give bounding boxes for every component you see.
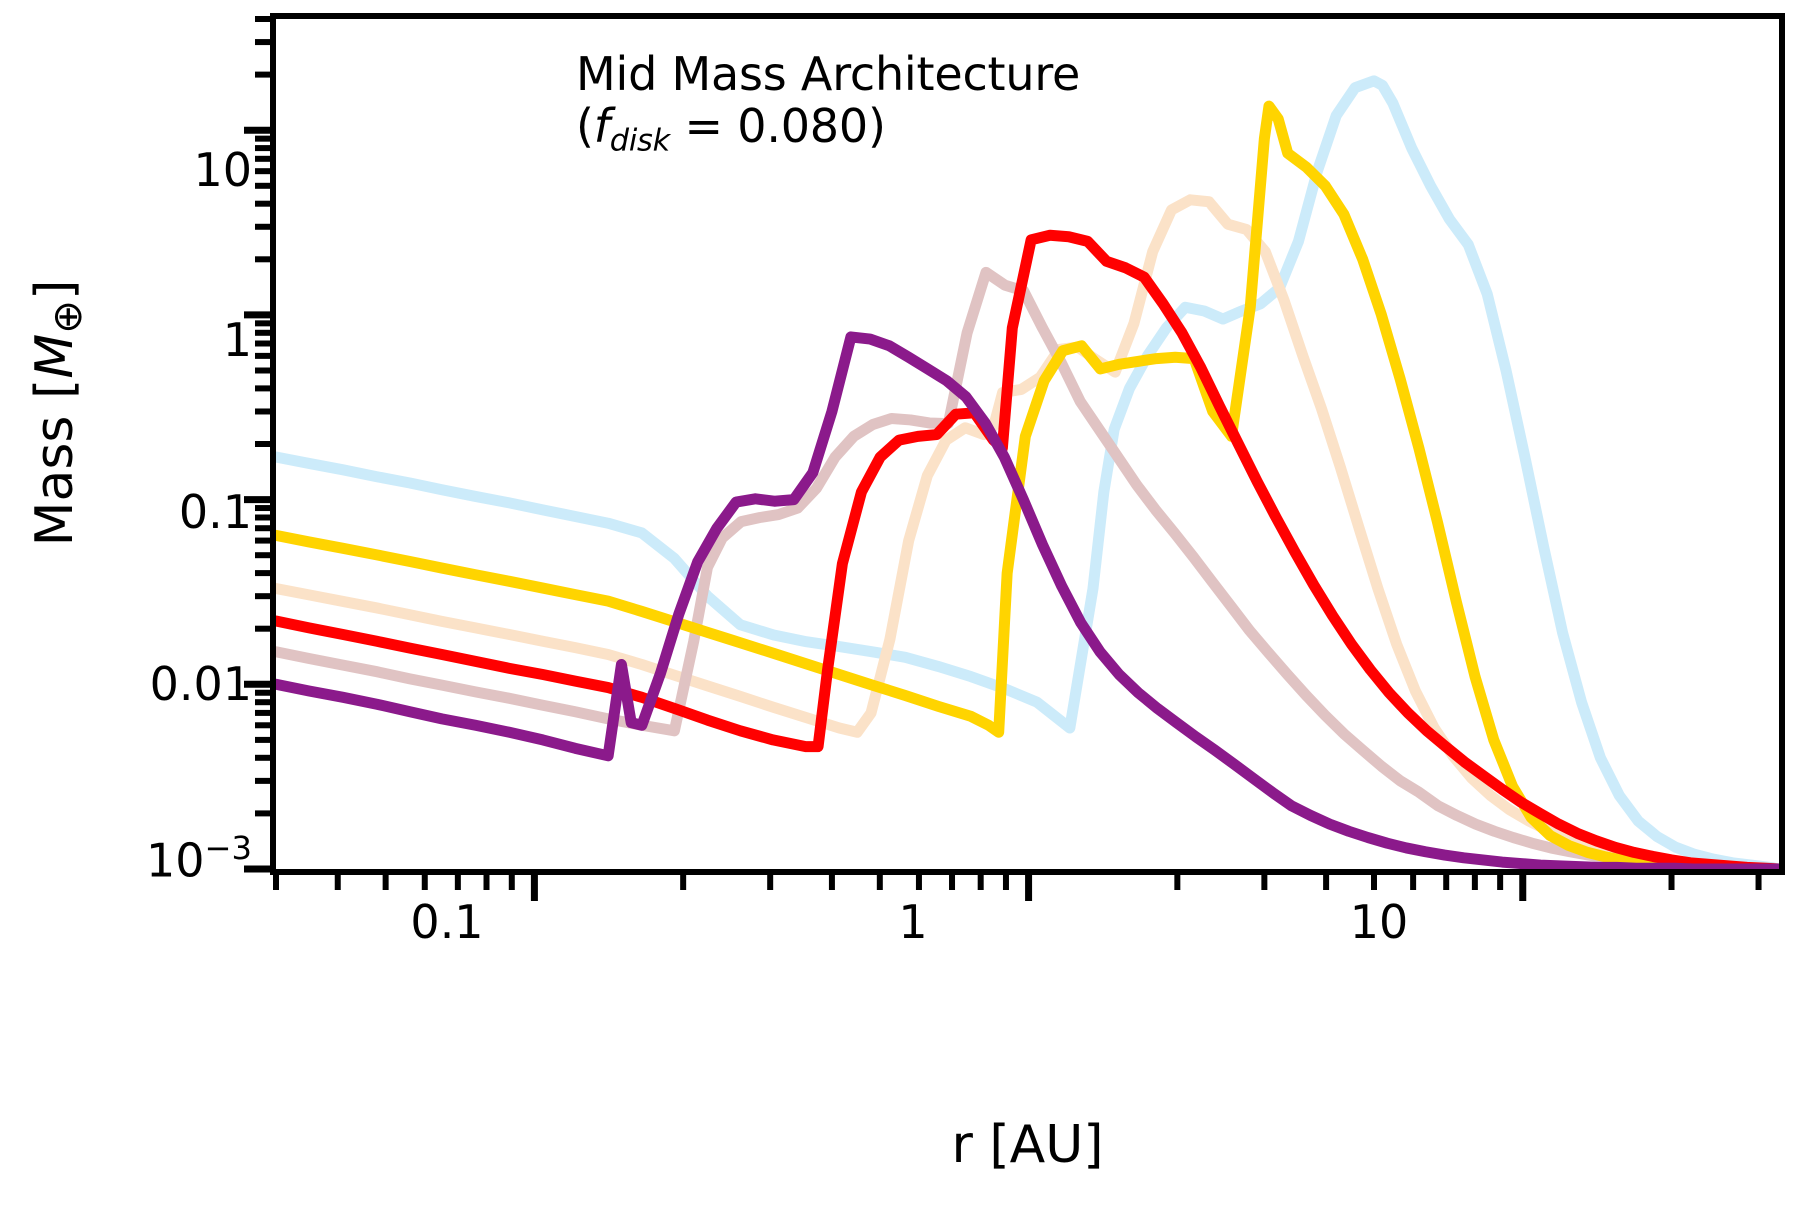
annotation-line-2: (fdisk = 0.080) (576, 101, 1080, 159)
chart-annotation: Mid Mass Architecture(fdisk = 0.080) (576, 49, 1080, 159)
ytick-label-0.01: 0.01 (0, 657, 252, 711)
plot-area: Mid Mass Architecture(fdisk = 0.080) (270, 13, 1785, 875)
y-axis-title: Mass [M⊕] (25, 173, 91, 653)
series-line-lightblue (276, 81, 1779, 869)
x-axis-title: r [AU] (270, 1115, 1785, 1175)
ytick-exponent: −3 (205, 829, 252, 867)
xtick-label-0.1: 0.1 (377, 895, 517, 949)
xtick-label-10: 10 (1309, 895, 1449, 949)
figure-root: 10 1 0.1 0.01 10−3 Mass [M⊕] 0.1 1 10 r … (0, 0, 1800, 1219)
series-line-yellow (276, 106, 1779, 869)
ytick-label-1e-3: 10−3 (0, 829, 252, 888)
series-line-red (276, 235, 1779, 869)
xtick-label-1: 1 (843, 895, 983, 949)
series-group (276, 81, 1779, 869)
annotation-line-1: Mid Mass Architecture (576, 47, 1080, 101)
